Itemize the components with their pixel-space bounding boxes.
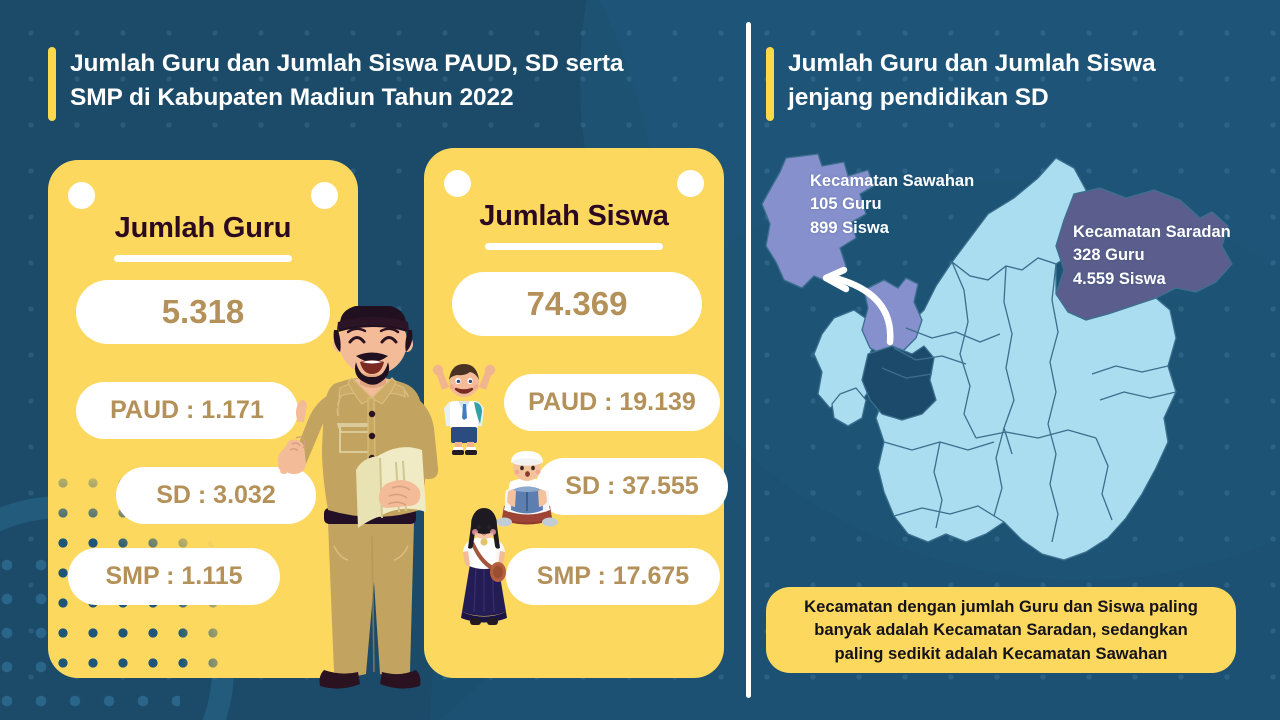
map-label-saradan: Kecamatan Saradan 328 Guru 4.559 Siswa	[1073, 221, 1231, 291]
infographic-canvas: Jumlah Guru dan Jumlah Siswa PAUD, SD se…	[0, 0, 1280, 720]
summary-note-box: Kecamatan dengan jumlah Guru dan Siswa p…	[766, 587, 1236, 673]
left-title-text: Jumlah Guru dan Jumlah Siswa PAUD, SD se…	[70, 47, 623, 121]
title-accent-bar	[766, 47, 774, 121]
map-region-dark-navy	[862, 346, 936, 420]
guru-smp-value: SMP : 1.115	[68, 548, 280, 605]
right-panel-title: Jumlah Guru dan Jumlah Siswa jenjang pen…	[766, 47, 1236, 121]
right-title-text: Jumlah Guru dan Jumlah Siswa jenjang pen…	[788, 47, 1156, 121]
panel-divider	[746, 22, 751, 698]
card-notch-right-icon	[677, 170, 704, 197]
left-panel-title: Jumlah Guru dan Jumlah Siswa PAUD, SD se…	[48, 47, 708, 121]
siswa-paud-value: PAUD : 19.139	[504, 374, 720, 431]
card-notch-left-icon	[444, 170, 471, 197]
siswa-total-value: 74.369	[452, 272, 702, 336]
card-notch-left-icon	[68, 182, 95, 209]
summary-note-text: Kecamatan dengan jumlah Guru dan Siswa p…	[804, 595, 1198, 665]
guru-paud-value: PAUD : 1.171	[76, 382, 298, 439]
card-title-guru: Jumlah Guru	[48, 212, 358, 245]
teacher-illustration	[276, 306, 466, 720]
card-title-underline	[114, 255, 292, 262]
card-title-underline	[485, 243, 663, 250]
siswa-sd-value: SD : 37.555	[536, 458, 728, 515]
siswa-smp-value: SMP : 17.675	[506, 548, 720, 605]
title-accent-bar	[48, 47, 56, 121]
card-notch-right-icon	[311, 182, 338, 209]
card-title-siswa: Jumlah Siswa	[424, 200, 724, 233]
map-label-sawahan: Kecamatan Sawahan 105 Guru 899 Siswa	[810, 170, 974, 240]
